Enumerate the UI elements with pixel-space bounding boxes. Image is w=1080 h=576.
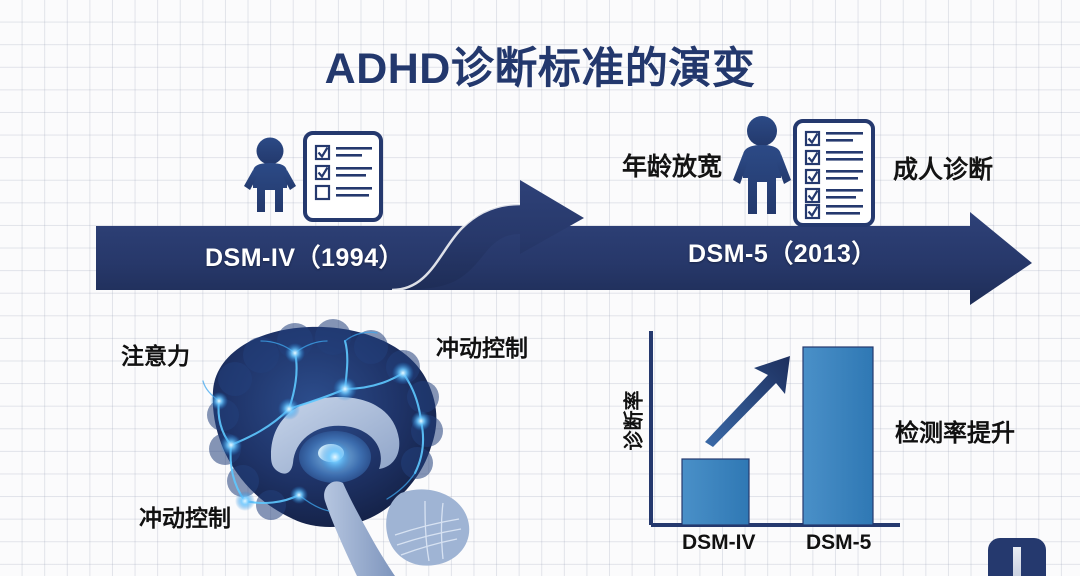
child-figure-icon	[244, 138, 296, 213]
clipboard-checklist-icon-dsm5	[795, 121, 873, 225]
timeline-graphics	[0, 100, 1080, 315]
bar-category-dsm4: DSM-IV	[682, 531, 756, 555]
infographic-canvas: ADHD诊断标准的演变	[0, 0, 1080, 576]
timeline-label-dsm4: DSM-IV（1994）	[205, 238, 404, 274]
callout-age-relaxed: 年龄放宽	[622, 147, 722, 183]
timeline-label-dsm5: DSM-5（2013）	[688, 234, 877, 270]
diagnosis-rate-bar-chart: DSM-IV DSM-5 诊断率	[600, 320, 900, 570]
brain-label-impulse-top: 冲动控制	[436, 329, 528, 363]
adult-figure-icon	[733, 116, 791, 214]
clipboard-checklist-icon-dsm4	[305, 133, 381, 220]
chart-y-axis-label: 诊断率	[618, 376, 647, 466]
partial-logo-badge-icon	[988, 538, 1046, 576]
brain-section: 注意力 冲动控制 冲动控制	[95, 305, 575, 576]
bar-category-dsm5: DSM-5	[806, 531, 871, 555]
timeline-section: DSM-IV（1994） DSM-5（2013） 年龄放宽 成人诊断	[0, 100, 1080, 315]
bar-dsm5	[803, 347, 873, 525]
bar-dsm4	[682, 459, 749, 525]
callout-adult-diagnosis: 成人诊断	[893, 150, 993, 186]
upward-trend-arrow-icon	[705, 356, 790, 447]
badge-stem	[1013, 547, 1021, 576]
brain-label-attention: 注意力	[121, 337, 190, 371]
brain-label-impulse-bottom: 冲动控制	[139, 499, 231, 533]
page-title: ADHD诊断标准的演变	[0, 34, 1080, 96]
chart-annotation-detection-increase: 检测率提升	[895, 413, 1015, 448]
